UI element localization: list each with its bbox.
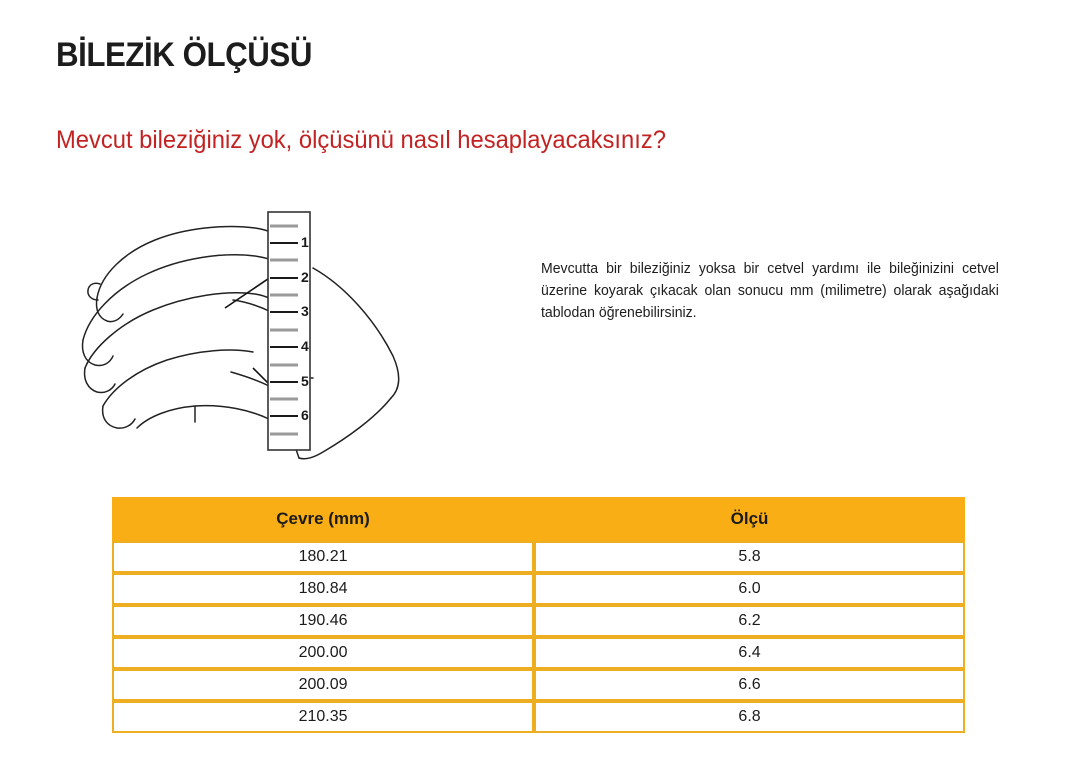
table-header-circumference: Çevre (mm) xyxy=(112,497,534,541)
cell-circumference: 180.21 xyxy=(112,541,534,573)
cell-size: 6.2 xyxy=(534,605,965,637)
cell-size: 6.4 xyxy=(534,637,965,669)
table-header-row: Çevre (mm) Ölçü xyxy=(112,497,965,541)
cell-circumference: 180.84 xyxy=(112,573,534,605)
cell-size: 5.8 xyxy=(534,541,965,573)
table-row: 200.00 6.4 xyxy=(112,637,965,669)
page-root: BİLEZİK ÖLÇÜSÜ Mevcut bileziğiniz yok, ö… xyxy=(0,0,1080,767)
table-header-size: Ölçü xyxy=(534,497,965,541)
table-row: 210.35 6.8 xyxy=(112,701,965,733)
cell-size: 6.6 xyxy=(534,669,965,701)
table-row: 190.46 6.2 xyxy=(112,605,965,637)
cell-circumference: 200.00 xyxy=(112,637,534,669)
cell-circumference: 200.09 xyxy=(112,669,534,701)
page-subtitle: Mevcut bileziğiniz yok, ölçüsünü nasıl h… xyxy=(56,126,666,155)
table-row: 180.84 6.0 xyxy=(112,573,965,605)
cell-circumference: 190.46 xyxy=(112,605,534,637)
cell-size: 6.0 xyxy=(534,573,965,605)
bracelet-size-table: Çevre (mm) Ölçü 180.21 5.8 180.84 6.0 19… xyxy=(112,497,965,733)
ruler xyxy=(268,212,310,450)
table-body: 180.21 5.8 180.84 6.0 190.46 6.2 200.00 … xyxy=(112,541,965,733)
table-row: 200.09 6.6 xyxy=(112,669,965,701)
table-row: 180.21 5.8 xyxy=(112,541,965,573)
hand-on-ruler-illustration: 1 2 3 4 5 6 xyxy=(55,190,455,475)
page-title: BİLEZİK ÖLÇÜSÜ xyxy=(56,36,312,75)
cell-circumference: 210.35 xyxy=(112,701,534,733)
description-paragraph: Mevcutta bir bileziğiniz yoksa bir cetve… xyxy=(541,258,999,324)
cell-size: 6.8 xyxy=(534,701,965,733)
